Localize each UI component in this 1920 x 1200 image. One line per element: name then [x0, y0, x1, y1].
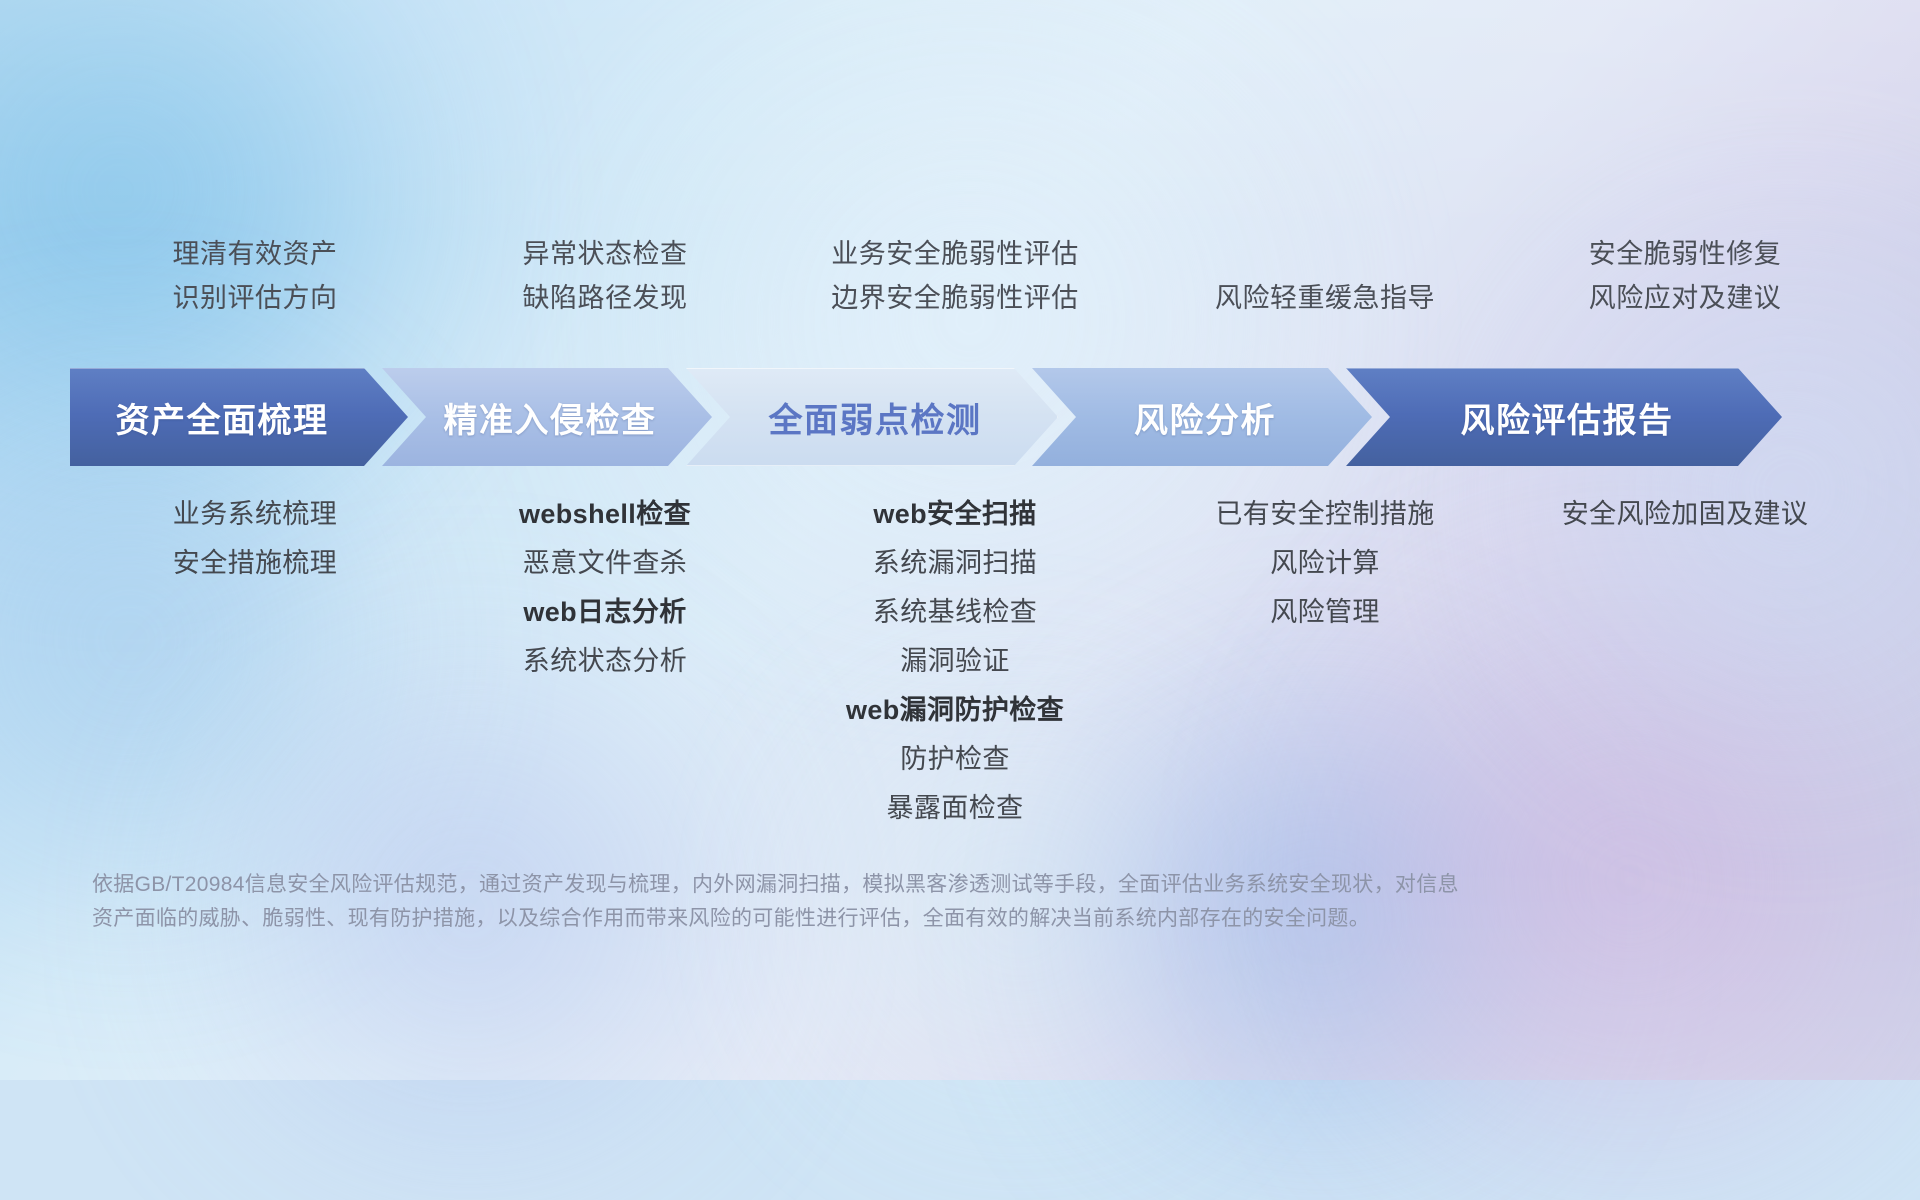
detail-list-intrusion-check: webshell检查 恶意文件查杀 web日志分析 系统状态分析 — [440, 490, 770, 686]
top-labels-risk-analysis: 风险轻重缓急指导 — [1140, 232, 1510, 342]
process-step-risk-analysis[interactable]: 风险分析 — [1032, 368, 1372, 466]
list-item: 业务系统梳理 — [173, 490, 337, 539]
detail-list-risk-analysis: 已有安全控制措施 风险计算 风险管理 — [1140, 490, 1510, 637]
top-label: 缺陷路径发现 — [523, 276, 688, 320]
list-item: web安全扫描 — [873, 490, 1036, 539]
process-step-label: 风险分析 — [1098, 393, 1306, 442]
footer-description: 依据GB/T20984信息安全风险评估规范，通过资产发现与梳理，内外网漏洞扫描，… — [92, 868, 1612, 936]
list-item: 防护检查 — [900, 735, 1010, 784]
list-item: webshell检查 — [519, 490, 691, 539]
process-step-asset-inventory[interactable]: 资产全面梳理 — [70, 368, 408, 466]
detail-list-weakness-detection: web安全扫描 系统漏洞扫描 系统基线检查 漏洞验证 web漏洞防护检查 防护检… — [770, 490, 1140, 833]
list-item: 风险管理 — [1270, 588, 1380, 637]
process-step-band: 资产全面梳理 精准入侵检查 全面弱点检测 风险分析 风险评估报告 — [70, 368, 1860, 466]
list-item: 恶意文件查杀 — [523, 539, 687, 588]
top-label: 边界安全脆弱性评估 — [831, 276, 1079, 320]
detail-item-row: 业务系统梳理 安全措施梳理 webshell检查 恶意文件查杀 web日志分析 … — [70, 490, 1860, 833]
top-label: 风险轻重缓急指导 — [1215, 276, 1435, 320]
process-step-label: 资产全面梳理 — [116, 393, 363, 442]
list-item: 系统漏洞扫描 — [873, 539, 1037, 588]
detail-list-asset-inventory: 业务系统梳理 安全措施梳理 — [70, 490, 440, 588]
top-label: 识别评估方向 — [173, 276, 338, 320]
list-item: web日志分析 — [523, 588, 686, 637]
process-step-label: 风险评估报告 — [1425, 393, 1704, 442]
list-item: 系统基线检查 — [873, 588, 1037, 637]
top-label: 异常状态检查 — [523, 232, 688, 276]
top-labels-risk-report: 安全脆弱性修复 风险应对及建议 — [1510, 232, 1860, 342]
list-item: 安全措施梳理 — [173, 539, 337, 588]
list-item: 安全风险加固及建议 — [1562, 490, 1809, 539]
list-item: 已有安全控制措施 — [1215, 490, 1434, 539]
list-item: 暴露面检查 — [887, 784, 1024, 833]
footer-line-1: 依据GB/T20984信息安全风险评估规范，通过资产发现与梳理，内外网漏洞扫描，… — [92, 868, 1612, 902]
process-step-label: 全面弱点检测 — [733, 393, 1012, 442]
list-item: 漏洞验证 — [900, 637, 1010, 686]
top-labels-asset-inventory: 理清有效资产 识别评估方向 — [70, 232, 440, 342]
top-label-row: 理清有效资产 识别评估方向 异常状态检查 缺陷路径发现 业务安全脆弱性评估 边界… — [70, 232, 1860, 342]
process-step-intrusion-check[interactable]: 精准入侵检查 — [382, 368, 712, 466]
detail-list-risk-report: 安全风险加固及建议 — [1510, 490, 1860, 539]
list-item: 系统状态分析 — [523, 637, 687, 686]
process-step-label: 精准入侵检查 — [408, 393, 687, 442]
process-step-risk-report[interactable]: 风险评估报告 — [1346, 368, 1782, 466]
process-step-weakness-detection[interactable]: 全面弱点检测 — [686, 368, 1058, 466]
top-labels-intrusion-check: 异常状态检查 缺陷路径发现 — [440, 232, 770, 342]
top-label: 理清有效资产 — [173, 232, 338, 276]
list-item: web漏洞防护检查 — [846, 686, 1064, 735]
top-label: 安全脆弱性修复 — [1589, 232, 1782, 276]
list-item: 风险计算 — [1270, 539, 1380, 588]
footer-line-2: 资产面临的威胁、脆弱性、现有防护措施，以及综合作用而带来风险的可能性进行评估，全… — [92, 902, 1612, 936]
process-diagram: 理清有效资产 识别评估方向 异常状态检查 缺陷路径发现 业务安全脆弱性评估 边界… — [0, 0, 1920, 1080]
top-labels-weakness-detection: 业务安全脆弱性评估 边界安全脆弱性评估 — [770, 232, 1140, 342]
top-label: 风险应对及建议 — [1589, 276, 1782, 320]
top-label: 业务安全脆弱性评估 — [831, 232, 1079, 276]
